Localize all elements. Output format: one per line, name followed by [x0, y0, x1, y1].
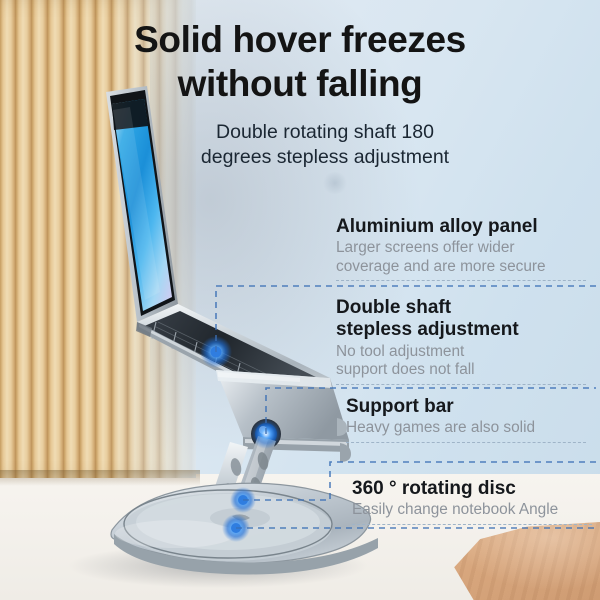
callout-description: No tool adjustment support does not fall	[336, 343, 586, 380]
panel-lip-hook	[340, 443, 351, 462]
callout-aluminium-alloy-panel: Aluminium alloy panel Larger screens off…	[336, 216, 586, 281]
callout-title: Support bar	[346, 396, 586, 418]
page-subheadline: Double rotating shaft 180 degrees steple…	[0, 120, 600, 171]
product-feature-image: Solid hover freezes without falling Doub…	[0, 0, 600, 600]
callout-support-bar: Support bar Heavy games are also solid	[346, 396, 586, 443]
callout-title: Double shaft stepless adjustment	[336, 297, 586, 342]
callout-double-shaft-stepless-adjustment: Double shaft stepless adjustment No tool…	[336, 297, 586, 385]
callout-divider	[336, 280, 586, 281]
callout-title: Aluminium alloy panel	[336, 216, 586, 238]
callout-description: Heavy games are also solid	[346, 419, 586, 437]
callout-title: 360 ° rotating disc	[352, 478, 592, 500]
callout-divider	[346, 442, 586, 443]
callout-divider	[336, 384, 586, 385]
callout-360-rotating-disc: 360 ° rotating disc Easily change notebo…	[352, 478, 592, 525]
callout-description: Easily change notebook Angle	[352, 501, 592, 519]
callout-description: Larger screens offer wider coverage and …	[336, 239, 586, 276]
callout-divider	[352, 524, 592, 525]
page-headline: Solid hover freezes without falling	[0, 18, 600, 105]
